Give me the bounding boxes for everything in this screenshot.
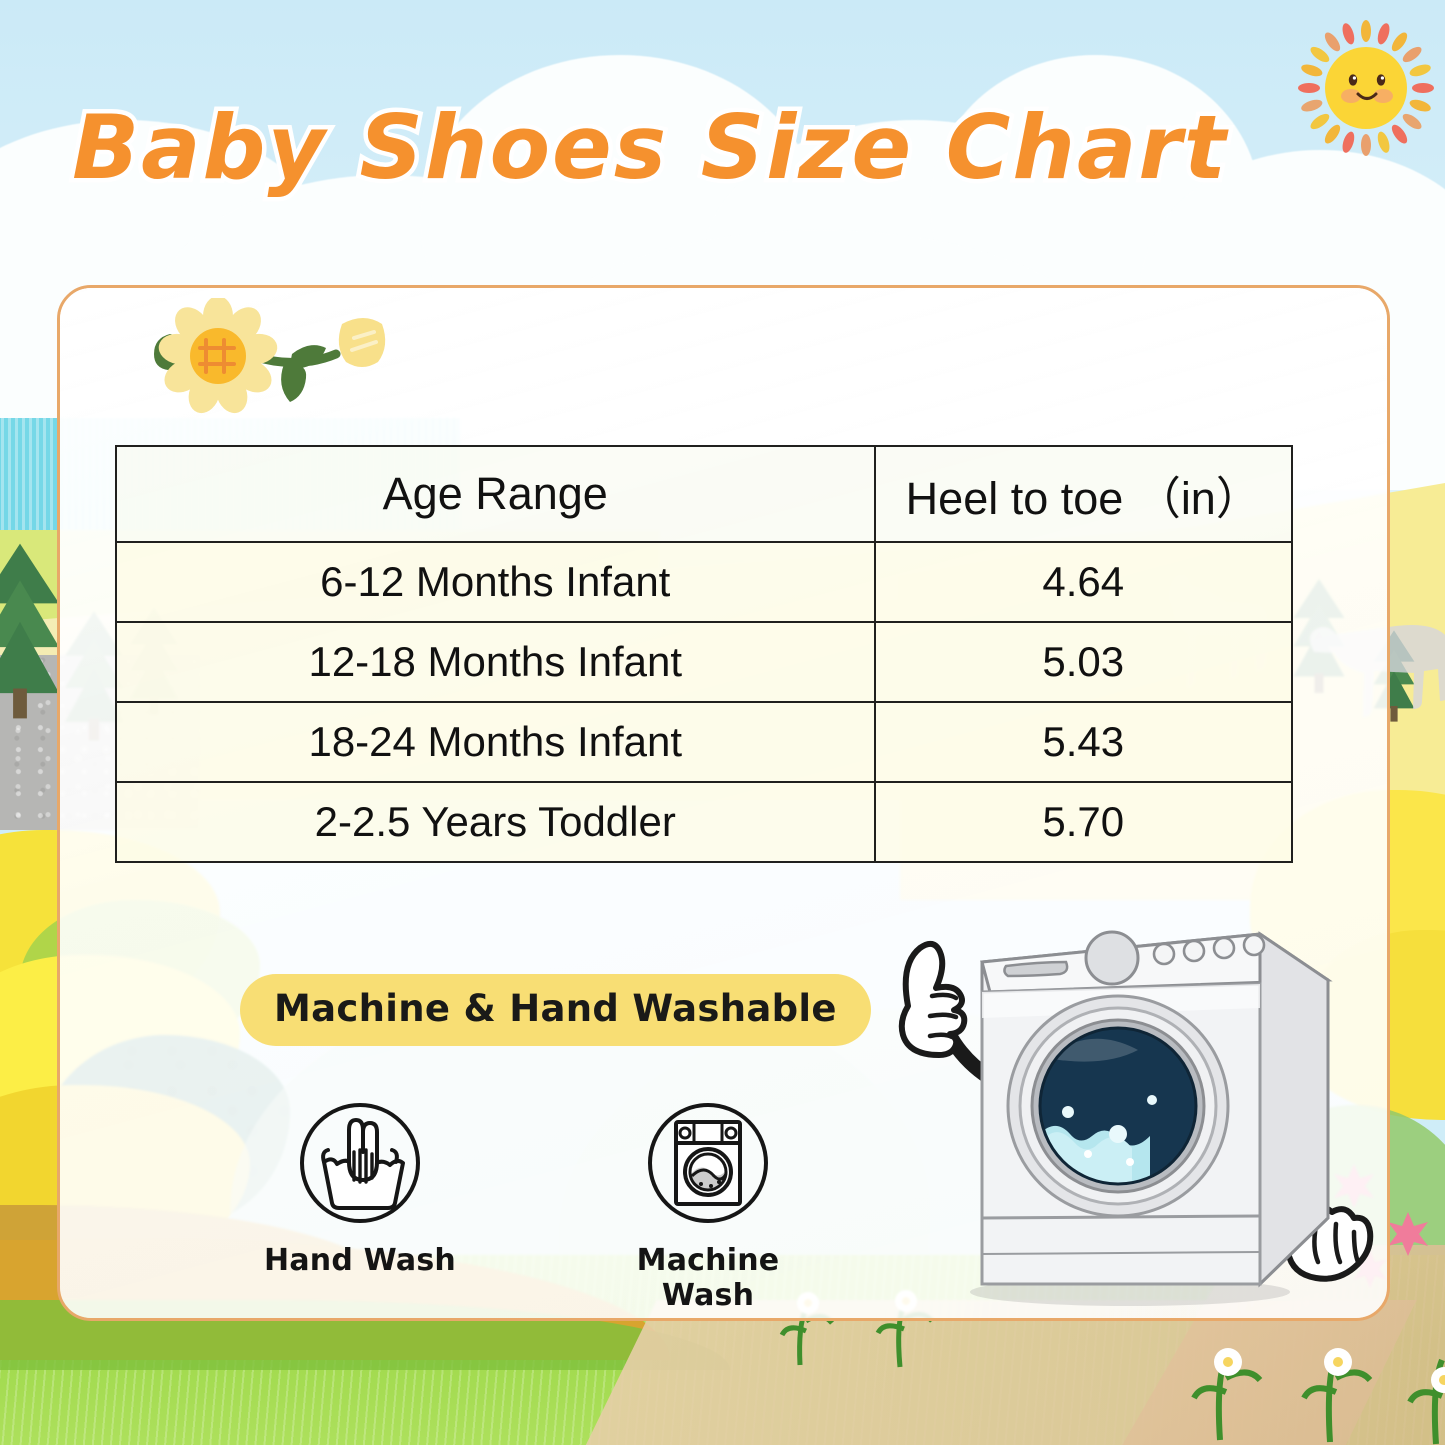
- daisy-cluster: [1180, 1300, 1445, 1445]
- cell-age-range: 6-12 Months Infant: [116, 542, 875, 622]
- status-badge: Machine & Hand Washable: [240, 974, 871, 1046]
- dirt-path: [583, 1300, 1416, 1445]
- cell-heel-to-toe: 5.43: [875, 702, 1292, 782]
- content-card: Age Range Heel to toe （in） 6-12 Months I…: [57, 285, 1390, 1321]
- table-row: 6-12 Months Infant 4.64: [116, 542, 1292, 622]
- machine-wash-icon: [645, 1100, 771, 1226]
- pine-tree: [0, 544, 59, 719]
- washing-machine-mascot: [830, 888, 1390, 1318]
- page-title: Baby Shoes Size Chart: [0, 96, 1300, 199]
- sun-icon: [1296, 18, 1436, 158]
- size-chart-table: Age Range Heel to toe （in） 6-12 Months I…: [115, 445, 1293, 863]
- page-title-text: Baby Shoes Size Chart: [72, 96, 1228, 199]
- table-row: 12-18 Months Infant 5.03: [116, 622, 1292, 702]
- care-item-machine-wash: Machine Wash: [588, 1100, 828, 1313]
- care-item-hand-wash: Hand Wash: [240, 1100, 480, 1278]
- cell-age-range: 12-18 Months Infant: [116, 622, 875, 702]
- cell-heel-to-toe: 4.64: [875, 542, 1292, 622]
- care-label-machine-wash: Machine Wash: [588, 1243, 828, 1313]
- column-header-age-range: Age Range: [116, 446, 875, 542]
- sunflower-tulip-icon: [132, 298, 422, 418]
- cell-heel-to-toe: 5.03: [875, 622, 1292, 702]
- size-chart-infographic: Baby Shoes Size Chart: [0, 0, 1445, 1445]
- table-row: 2-2.5 Years Toddler 5.70: [116, 782, 1292, 862]
- table-header-row: Age Range Heel to toe （in）: [116, 446, 1292, 542]
- column-header-heel-to-toe: Heel to toe （in）: [875, 446, 1292, 542]
- hand-wash-icon: [297, 1100, 423, 1226]
- cell-age-range: 18-24 Months Infant: [116, 702, 875, 782]
- cell-heel-to-toe: 5.70: [875, 782, 1292, 862]
- table-row: 18-24 Months Infant 5.43: [116, 702, 1292, 782]
- care-label-hand-wash: Hand Wash: [240, 1243, 480, 1278]
- cell-age-range: 2-2.5 Years Toddler: [116, 782, 875, 862]
